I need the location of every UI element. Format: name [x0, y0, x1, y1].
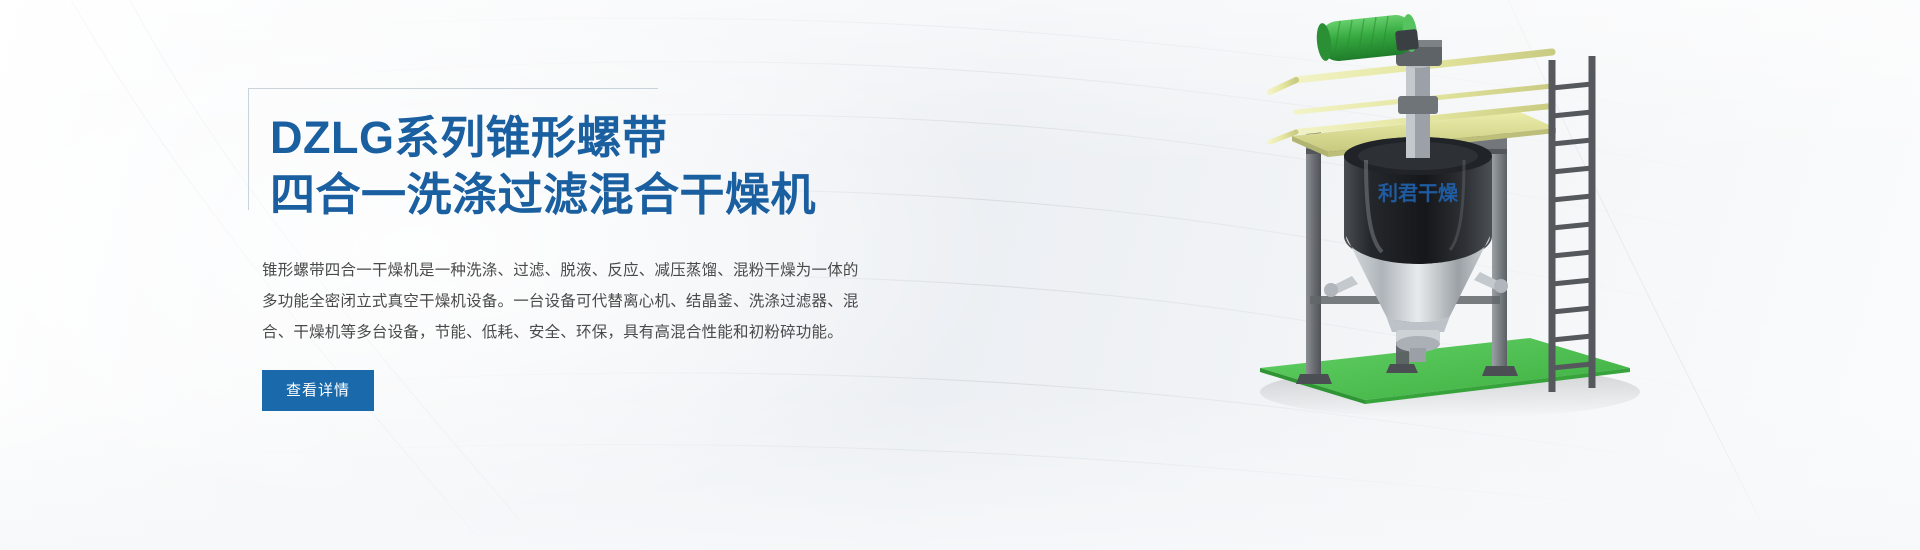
- page-title: DZLG系列锥形螺带 四合一洗涤过滤混合干燥机: [270, 110, 888, 223]
- vessel-watermark: 利君干燥: [1378, 182, 1459, 205]
- headline-line-1: DZLG系列锥形螺带: [270, 112, 667, 163]
- access-ladder: [1552, 56, 1592, 392]
- headline-block: DZLG系列锥形螺带 四合一洗涤过滤混合干燥机: [248, 88, 888, 237]
- product-illustration: 利君干燥: [1200, 0, 1920, 550]
- banner-content: DZLG系列锥形螺带 四合一洗涤过滤混合干燥机 锥形螺带四合一干燥机是一种洗涤、…: [248, 88, 888, 411]
- headline-line-2: 四合一洗涤过滤混合干燥机: [270, 167, 888, 224]
- hero-banner: DZLG系列锥形螺带 四合一洗涤过滤混合干燥机 锥形螺带四合一干燥机是一种洗涤、…: [0, 0, 1920, 550]
- banner-description: 锥形螺带四合一干燥机是一种洗涤、过滤、脱液、反应、减压蒸馏、混粉干燥为一体的多功…: [262, 255, 862, 348]
- view-details-button[interactable]: 查看详情: [262, 370, 374, 411]
- decorative-bracket-left: [248, 88, 249, 210]
- decorative-bracket-top: [248, 88, 658, 89]
